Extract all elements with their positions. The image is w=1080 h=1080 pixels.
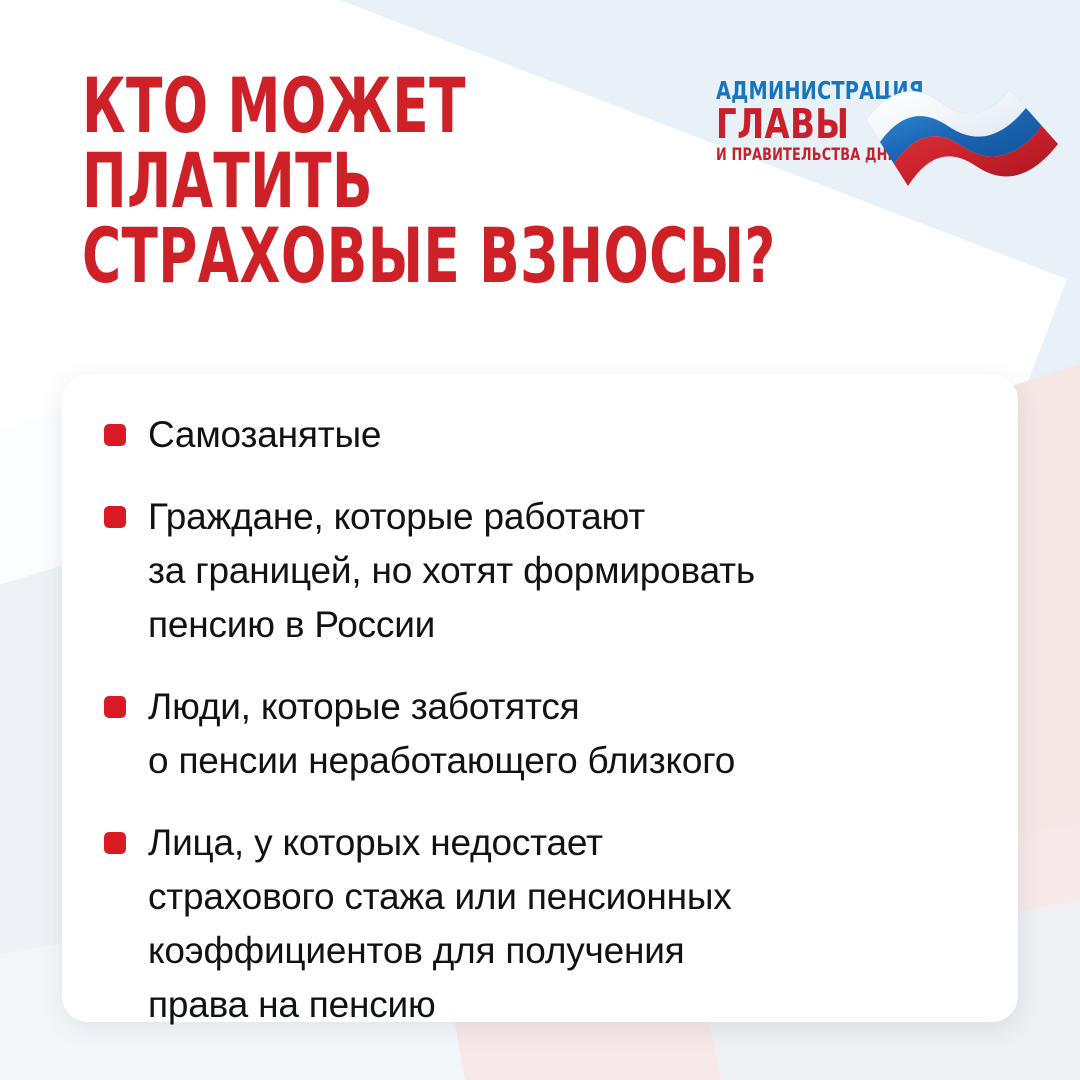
red-square-bullet-icon (104, 424, 126, 446)
page-title-line-1: КТО МОЖЕТ (82, 68, 628, 143)
list-item-text: Люди, которые заботятся о пенсии неработ… (148, 680, 978, 788)
page-title-line-2: ПЛАТИТЬ (82, 143, 628, 218)
content-card: Самозанятые Граждане, которые работают з… (62, 374, 1018, 1022)
red-square-bullet-icon (104, 832, 126, 854)
red-square-bullet-icon (104, 696, 126, 718)
infographic-poster: КТО МОЖЕТ ПЛАТИТЬ СТРАХОВЫЕ ВЗНОСЫ? АДМИ… (0, 0, 1080, 1080)
list-item: Люди, которые заботятся о пенсии неработ… (104, 680, 978, 788)
eligibility-list: Самозанятые Граждане, которые работают з… (104, 408, 978, 1032)
red-square-bullet-icon (104, 506, 126, 528)
list-item: Граждане, которые работают за границей, … (104, 490, 978, 652)
list-item-text: Самозанятые (148, 408, 978, 462)
list-item-text: Граждане, которые работают за границей, … (148, 490, 978, 652)
list-item: Лица, у которых недостает страхового ста… (104, 816, 978, 1032)
list-item-text: Лица, у которых недостает страхового ста… (148, 816, 978, 1032)
list-item: Самозанятые (104, 408, 978, 462)
page-title: КТО МОЖЕТ ПЛАТИТЬ СТРАХОВЫЕ ВЗНОСЫ? (82, 68, 782, 293)
page-title-line-3: СТРАХОВЫЕ ВЗНОСЫ? (82, 218, 628, 293)
russian-tricolor-wave-icon (864, 72, 1064, 190)
organization-logo: АДМИНИСТРАЦИЯ ГЛАВЫ И ПРАВИТЕЛЬСТВА ДНР (716, 72, 1064, 192)
